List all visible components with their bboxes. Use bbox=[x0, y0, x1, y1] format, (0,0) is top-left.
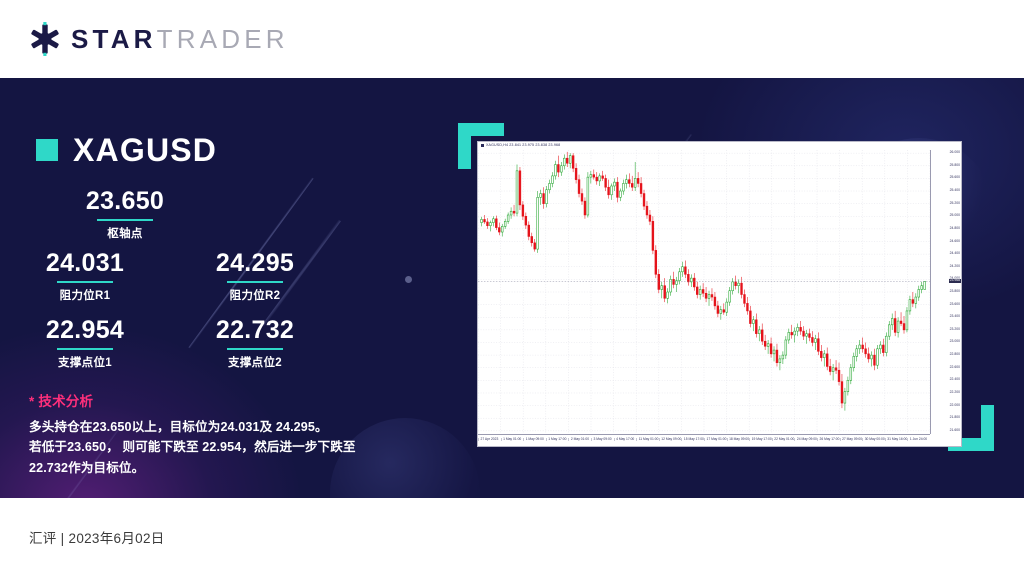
level-label: 支撑点位1 bbox=[0, 354, 170, 370]
price-tick-label: 25.800 bbox=[950, 164, 960, 167]
six-point-star-icon bbox=[28, 22, 62, 56]
time-tick-label: 1 Jun 24:00 bbox=[907, 438, 927, 441]
brand-logo[interactable]: STARTRADER bbox=[28, 22, 289, 56]
price-tick-label: 24.600 bbox=[950, 240, 960, 243]
analysis-heading: * 技术分析 bbox=[29, 390, 419, 410]
level-value: 22.732 bbox=[170, 317, 340, 345]
time-tick-label: 30 May 00:00 bbox=[862, 438, 884, 441]
chart-marker-icon bbox=[481, 144, 484, 147]
time-tick-label: 3 May 09:00 bbox=[591, 438, 612, 441]
level-label: 阻力位R2 bbox=[170, 287, 340, 303]
level-underline bbox=[227, 348, 283, 351]
time-tick-label: 12 May 09:00 bbox=[659, 438, 681, 441]
time-tick-label: 26 May 17:00 bbox=[817, 438, 839, 441]
brand-name-light: TRADER bbox=[157, 24, 289, 54]
time-tick-label: 31 May 16:00 bbox=[885, 438, 907, 441]
time-tick-label: 19 May 17:00 bbox=[749, 438, 771, 441]
pivot-value: 23.650 bbox=[0, 188, 250, 216]
price-tick-label: 24.200 bbox=[950, 265, 960, 268]
level-label: 支撑点位2 bbox=[170, 354, 340, 370]
chart-ohlc-header: XAGUSD,H4 23.841 23.975 23.838 23.968 bbox=[481, 143, 560, 147]
price-tick-label: 22.400 bbox=[950, 378, 960, 381]
level-underline bbox=[227, 281, 283, 284]
resistance-row: 24.031 阻力位R1 24.295 阻力位R2 bbox=[0, 250, 340, 317]
infographic-page: STARTRADER XAGUSD 23.650 bbox=[0, 0, 1024, 576]
price-tick-label: 24.400 bbox=[950, 252, 960, 255]
price-tick-label: 26.000 bbox=[950, 151, 960, 154]
corner-bracket-bottom-right bbox=[981, 405, 994, 451]
level-value: 22.954 bbox=[0, 317, 170, 345]
time-tick-label: 17 May 01:00 bbox=[704, 438, 726, 441]
pivot-underline bbox=[97, 219, 153, 222]
pivot-label: 枢轴点 bbox=[0, 225, 250, 241]
current-price-label: 23.968 bbox=[949, 279, 961, 284]
chart-ohlc-text: XAGUSD,H4 23.841 23.975 23.838 23.968 bbox=[486, 143, 560, 147]
price-tick-label: 23.800 bbox=[950, 290, 960, 293]
price-tick-label: 22.000 bbox=[950, 404, 960, 407]
level-value: 24.031 bbox=[0, 250, 170, 278]
price-tick-label: 23.600 bbox=[950, 303, 960, 306]
analysis-line-1: 多头持仓在23.650以上，目标位为24.031及 24.295。 bbox=[29, 417, 419, 437]
candlestick-svg bbox=[478, 150, 930, 434]
level-s2: 22.732 支撑点位2 bbox=[170, 317, 340, 384]
level-underline bbox=[57, 348, 113, 351]
price-tick-label: 23.200 bbox=[950, 328, 960, 331]
price-tick-label: 22.200 bbox=[950, 391, 960, 394]
time-tick-label: 1 May 09:00 bbox=[523, 438, 544, 441]
level-s1: 22.954 支撑点位1 bbox=[0, 317, 170, 384]
footer-text: 汇评 | 2023年6月02日 bbox=[29, 527, 165, 547]
level-value: 24.295 bbox=[170, 250, 340, 278]
time-tick-label: 27 May 09:00 bbox=[840, 438, 862, 441]
technical-analysis-block: * 技术分析 多头持仓在23.650以上，目标位为24.031及 24.295。… bbox=[29, 390, 419, 478]
square-bullet-icon bbox=[36, 139, 58, 161]
time-tick-label: 4 May 17:00 bbox=[614, 438, 635, 441]
price-tick-label: 25.200 bbox=[950, 202, 960, 205]
time-tick-label: 22 May 01:00 bbox=[772, 438, 794, 441]
price-tick-label: 25.400 bbox=[950, 189, 960, 192]
price-tick-label: 22.800 bbox=[950, 353, 960, 356]
symbol-info-column: XAGUSD 23.650 枢轴点 24.031 阻力位R1 24.295 阻力… bbox=[0, 78, 440, 498]
level-label: 阻力位R1 bbox=[0, 287, 170, 303]
candlestick-plot-area bbox=[478, 150, 930, 434]
time-tick-label: 27 Apr 2023 bbox=[478, 438, 498, 441]
support-row: 22.954 支撑点位1 22.732 支撑点位2 bbox=[0, 317, 340, 384]
analysis-line-3: 22.732作为目标位。 bbox=[29, 458, 419, 478]
price-axis: 26.00025.80025.60025.40025.20025.00024.8… bbox=[930, 150, 961, 434]
support-resistance-grid: 24.031 阻力位R1 24.295 阻力位R2 22.954 支撑点位1 bbox=[0, 250, 340, 384]
price-tick-label: 21.800 bbox=[950, 416, 960, 419]
level-underline bbox=[57, 281, 113, 284]
time-tick-label: 11 May 01:00 bbox=[636, 438, 658, 441]
level-r1: 24.031 阻力位R1 bbox=[0, 250, 170, 317]
page-title: XAGUSD bbox=[73, 134, 217, 166]
price-tick-label: 21.600 bbox=[950, 429, 960, 432]
price-tick-label: 23.000 bbox=[950, 340, 960, 343]
page-footer: 汇评 | 2023年6月02日 bbox=[0, 498, 1024, 576]
pivot-level: 23.650 枢轴点 bbox=[0, 188, 250, 241]
time-tick-label: 1 May 17:00 bbox=[546, 438, 567, 441]
time-tick-label: 24 May 09:00 bbox=[794, 438, 816, 441]
brand-name-bold: STAR bbox=[71, 24, 157, 54]
analysis-line-2: 若低于23.650， 则可能下跌至 22.954，然后进一步下跌至 bbox=[29, 437, 419, 457]
page-header: STARTRADER bbox=[0, 0, 1024, 78]
level-r2: 24.295 阻力位R2 bbox=[170, 250, 340, 317]
price-tick-label: 23.400 bbox=[950, 315, 960, 318]
price-tick-label: 24.800 bbox=[950, 227, 960, 230]
time-axis: 27 Apr 20231 May 01:001 May 09:001 May 1… bbox=[478, 434, 930, 446]
corner-bracket-top-left bbox=[458, 123, 471, 169]
price-chart[interactable]: XAGUSD,H4 23.841 23.975 23.838 23.968 26… bbox=[477, 141, 962, 447]
price-tick-label: 22.600 bbox=[950, 366, 960, 369]
brand-wordmark: STARTRADER bbox=[71, 26, 289, 52]
time-tick-label: 15 May 17:00 bbox=[681, 438, 703, 441]
time-tick-label: 2 May 01:00 bbox=[568, 438, 589, 441]
time-tick-label: 18 May 09:00 bbox=[727, 438, 749, 441]
symbol-title-row: XAGUSD bbox=[36, 134, 217, 166]
price-tick-label: 25.000 bbox=[950, 214, 960, 217]
price-tick-label: 25.600 bbox=[950, 176, 960, 179]
time-tick-label: 1 May 01:00 bbox=[501, 438, 522, 441]
